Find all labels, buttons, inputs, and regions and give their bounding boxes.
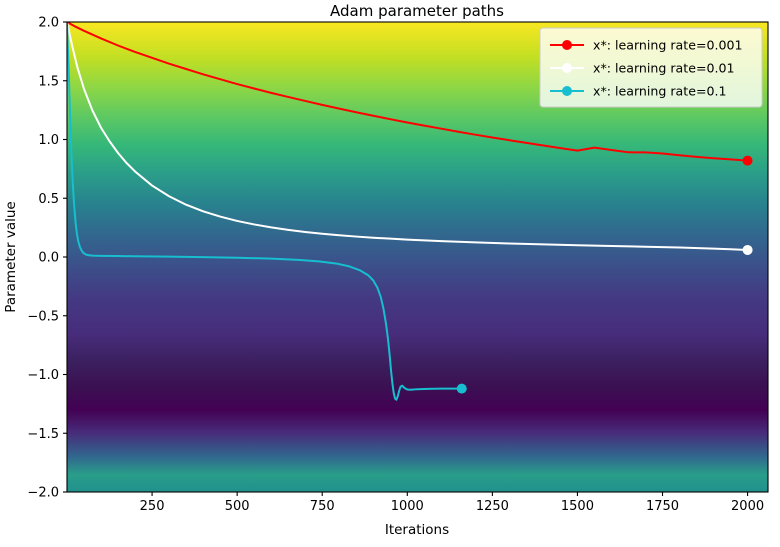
- series-endpoint-marker-1: [743, 245, 753, 255]
- x-axis-ticks: 25050075010001250150017502000: [140, 492, 764, 514]
- matplotlib-figure: 25050075010001250150017502000 −2.0−1.5−1…: [0, 0, 780, 547]
- legend-marker-1: [562, 63, 572, 73]
- x-tick-label: 1250: [476, 499, 509, 514]
- y-tick-label: −1.0: [27, 368, 59, 383]
- page-title: Adam parameter paths: [330, 2, 504, 20]
- y-axis-label: Parameter value: [3, 201, 19, 312]
- legend-label-2: x*: learning rate=0.1: [593, 84, 727, 99]
- x-tick-label: 250: [140, 499, 165, 514]
- y-tick-label: 1.0: [38, 133, 59, 148]
- x-tick-label: 2000: [731, 499, 764, 514]
- x-tick-label: 1000: [391, 499, 424, 514]
- y-tick-label: 0.5: [38, 192, 59, 207]
- x-axis-label: Iterations: [385, 522, 449, 538]
- y-tick-label: 2.0: [38, 16, 59, 31]
- legend-marker-2: [562, 86, 572, 96]
- x-tick-label: 750: [310, 499, 335, 514]
- y-tick-label: 1.5: [38, 74, 59, 89]
- x-tick-label: 500: [225, 499, 250, 514]
- legend-marker-0: [562, 40, 572, 50]
- x-tick-label: 1500: [561, 499, 594, 514]
- series-endpoint-marker-0: [743, 156, 753, 166]
- legend-label-0: x*: learning rate=0.001: [593, 38, 743, 53]
- y-tick-label: −1.5: [27, 427, 59, 442]
- chart-canvas: 25050075010001250150017502000 −2.0−1.5−1…: [0, 0, 780, 547]
- y-tick-label: −2.0: [27, 486, 59, 501]
- y-tick-label: −0.5: [27, 309, 59, 324]
- legend-label-1: x*: learning rate=0.01: [593, 61, 735, 76]
- x-tick-label: 1750: [646, 499, 679, 514]
- series-endpoint-marker-2: [457, 384, 467, 394]
- y-tick-label: 0.0: [38, 251, 59, 266]
- legend[interactable]: x*: learning rate=0.001x*: learning rate…: [540, 28, 762, 107]
- y-axis-ticks: −2.0−1.5−1.0−0.50.00.51.01.52.0: [27, 16, 67, 501]
